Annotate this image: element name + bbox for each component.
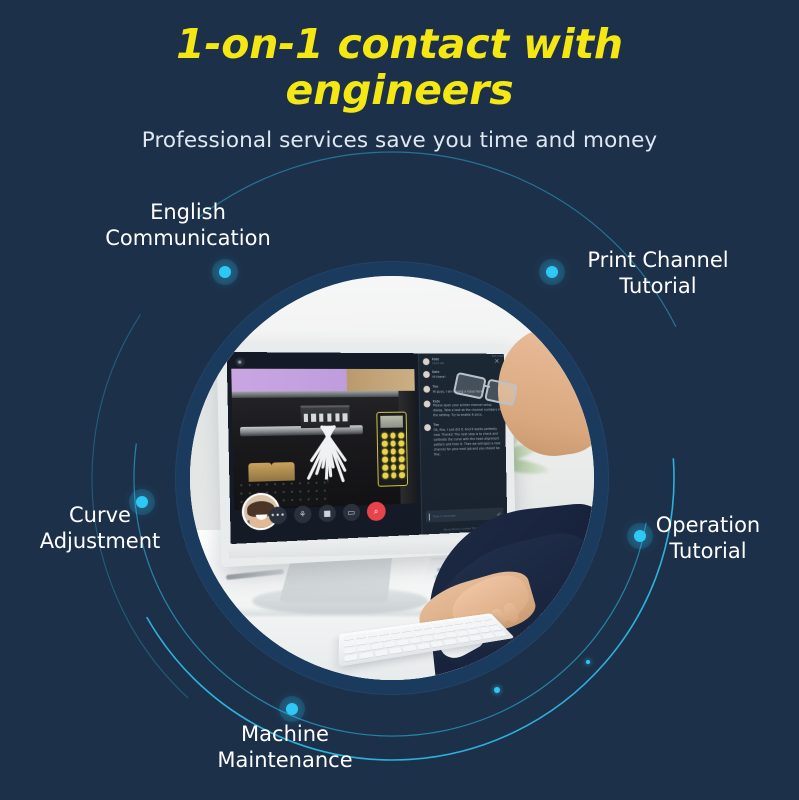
arc-endpoint-dot-upper [586,660,590,664]
keyboard-key[interactable] [356,633,366,639]
keyboard-key[interactable] [433,634,445,640]
microphone-icon[interactable]: ⚘ [294,505,312,523]
keyboard-key[interactable] [456,625,467,630]
sidebar-item-english-communication[interactable]: English Communication [88,200,288,251]
printer-keypad-button [382,449,388,455]
printer-keypad-button [383,473,389,479]
printer-keypad-button [390,433,395,439]
printer-keypad-button [398,432,403,438]
keyboard-key[interactable] [442,621,453,626]
keyboard-key[interactable] [409,638,421,644]
camera-icon[interactable]: ■ [318,504,336,522]
keyboard-key[interactable] [456,631,468,637]
node-dot-print-channel-tutorial[interactable] [546,266,558,278]
keyboard-key[interactable] [466,623,477,628]
node-dot-operation-tutorial[interactable] [634,530,646,542]
printer-keypad-button [391,473,396,479]
keyboard-key[interactable] [472,617,483,622]
keyboard-key[interactable] [356,639,366,645]
keyboard-key[interactable] [344,654,357,662]
printer-keypad-button [391,457,396,463]
keyboard-key[interactable] [485,621,496,626]
camera-toggle-icon[interactable]: ◉ [235,357,245,366]
printer-keypad-button [382,433,388,439]
keyboard-key[interactable] [358,645,370,652]
keyboard-key[interactable] [445,626,456,631]
keyboard-key[interactable] [462,618,473,623]
sidebar-item-curve-adjustment[interactable]: Curve Adjustment [10,503,190,554]
ellipsis-icon[interactable]: ••• [269,506,287,524]
keyboard-key[interactable] [391,634,402,640]
sidebar-item-operation-tutorial[interactable]: Operation Tutorial [620,513,796,564]
printer-control-panel [376,411,407,486]
printer-keypad-button [382,465,388,471]
keyboard-key[interactable] [344,641,354,647]
keyboard-key[interactable] [432,623,443,628]
keyboard-key[interactable] [422,624,433,629]
hero-photo: ◉ [190,276,594,680]
keyboard-key[interactable] [367,632,377,638]
photo-ring: ◉ [176,262,608,694]
sidebar-item-machine-maintenance[interactable]: Machine Maintenance [180,722,390,773]
video-stage: ◉ [227,352,422,544]
keyboard-key[interactable] [481,633,495,639]
printer-keypad-button [399,456,404,462]
sidebar-item-print-channel-tutorial[interactable]: Print Channel Tutorial [548,248,768,299]
printer-keypad-button [399,464,404,470]
keyboard-key[interactable] [489,626,502,631]
arc-endpoint-dot-lower [494,687,500,693]
keyboard-key[interactable] [344,647,356,654]
keyboard-key[interactable] [421,636,433,642]
printer-keypad-button [399,472,404,478]
call-controls: ••• ⚘ ■ ▭ ⌕ [269,502,386,526]
printer-keypad-button [382,457,388,463]
keyboard-key[interactable] [493,631,507,637]
keyboard-key[interactable] [430,641,444,648]
screen-share-icon[interactable]: ▭ [343,504,360,522]
node-dot-english-communication[interactable] [219,266,231,278]
keyboard-key[interactable] [456,637,470,643]
keyboard-key[interactable] [443,639,457,645]
keyboard-key[interactable] [417,643,431,650]
keyboard-key[interactable] [403,632,414,638]
printer-keypad-button [382,441,388,447]
keyboard-key[interactable] [435,628,446,633]
shared-screen-feed[interactable] [231,369,416,511]
keyboard-key[interactable] [368,637,379,643]
keyboard-key[interactable] [481,616,492,621]
keyboard-key[interactable] [380,636,391,642]
printer-keypad-button [399,440,404,446]
keyboard-key[interactable] [452,620,463,625]
keyboard-key[interactable] [379,630,389,635]
node-dot-curve-adjustment[interactable] [136,496,148,508]
keyboard-key[interactable] [371,643,383,650]
keyboard-key[interactable] [478,627,491,632]
keyboard-key[interactable] [424,629,435,634]
keyboard-key[interactable] [360,652,373,659]
keyboard-key[interactable] [411,625,422,630]
keyboard-key[interactable] [374,649,388,656]
keyboard-key[interactable] [403,645,417,652]
keyboard-key[interactable] [384,641,396,647]
printer-keypad-button [390,441,395,447]
keyboard-key[interactable] [401,627,411,632]
keyboard-key[interactable] [467,629,479,635]
phone-hangup-icon[interactable]: ⌕ [367,502,386,522]
printer-keypad-button [399,448,404,454]
printer-keypad-button [391,465,396,471]
printer-keypad-button [390,449,395,455]
poster-stage: 1-on-1 contact with engineers Profession… [0,0,799,800]
keyboard-key[interactable] [389,647,403,654]
keyboard-key[interactable] [397,639,409,645]
keyboard-key[interactable] [469,635,483,641]
keyboard-key[interactable] [445,632,457,638]
keyboard-key[interactable] [390,628,400,633]
node-dot-machine-maintenance[interactable] [286,703,298,715]
keyboard-key[interactable] [344,635,354,641]
keyboard-key[interactable] [414,631,425,637]
